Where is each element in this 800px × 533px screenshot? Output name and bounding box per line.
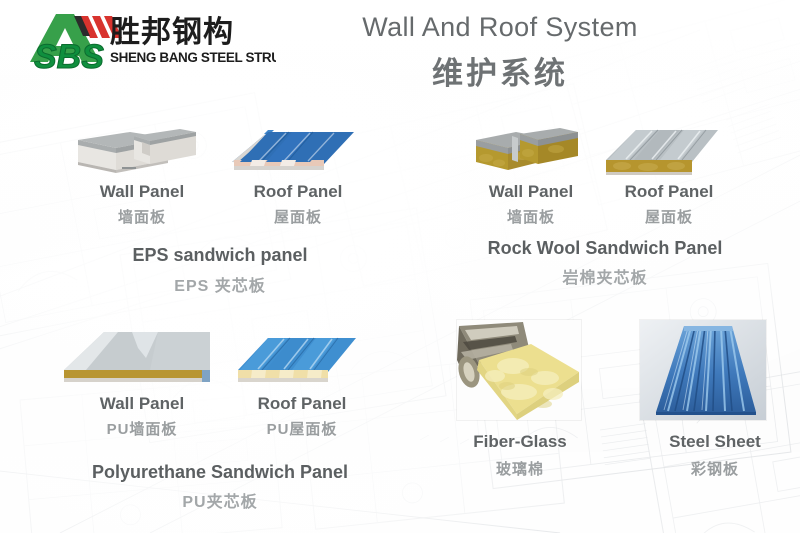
eps-wall-panel-label-cn: 墙面板 [62,206,222,227]
fiber-glass-roll-image [457,320,581,420]
pu-wall-panel-label-cn: PU墙面板 [62,418,222,439]
rockwool-wall-panel-label-en: Wall Panel [456,182,606,202]
eps-wall-panel-image [72,112,202,182]
rockwool-wall-panel-label-cn: 墙面板 [456,206,606,227]
fiber-glass-label-cn: 玻璃棉 [440,458,600,479]
rockwool-roof-panel-label-cn: 屋面板 [594,206,744,227]
eps-roof-panel-image [228,116,358,182]
eps-roof-panel-label-cn: 屋面板 [218,206,378,227]
pu-wall-panel-label-en: Wall Panel [62,394,222,414]
rockwool-wall-panel-image [472,118,584,184]
steel-sheet-image [640,320,766,420]
svg-text:SBS: SBS [34,38,104,76]
steel-sheet-label-cn: 彩钢板 [635,458,795,479]
eps-group-label-cn: EPS 夹芯板 [90,272,350,296]
pu-roof-panel-label-cn: PU屋面板 [222,418,382,439]
page-title-chinese: 维护系统 [330,48,670,93]
page-title-english: Wall And Roof System [330,12,670,43]
rockwool-group-label-en: Rock Wool Sandwich Panel [455,238,755,259]
fiber-glass-label-en: Fiber-Glass [440,432,600,452]
pu-group-label-en: Polyurethane Sandwich Panel [45,462,395,483]
pu-roof-panel-label-en: Roof Panel [222,394,382,414]
svg-text:胜邦钢构: 胜邦钢构 [110,15,234,50]
pu-roof-panel-image [232,328,362,390]
svg-text:SHENG BANG STEEL STRUCTURE: SHENG BANG STEEL STRUCTURE [110,50,276,65]
eps-group-label-en: EPS sandwich panel [90,245,350,266]
rockwool-roof-panel-label-en: Roof Panel [594,182,744,202]
steel-sheet-label-en: Steel Sheet [635,432,795,452]
rockwool-roof-panel-image [602,116,722,182]
company-logo: SBS 胜邦钢构 SHENG BANG STEEL STRUCTURE [14,6,276,78]
pu-wall-panel-image [62,326,214,388]
slide-canvas: SBS 胜邦钢构 SHENG BANG STEEL STRUCTURE Wall… [0,0,800,533]
rockwool-group-label-cn: 岩棉夹芯板 [455,264,755,288]
eps-wall-panel-label-en: Wall Panel [62,182,222,202]
pu-group-label-cn: PU夹芯板 [45,488,395,512]
eps-roof-panel-label-en: Roof Panel [218,182,378,202]
